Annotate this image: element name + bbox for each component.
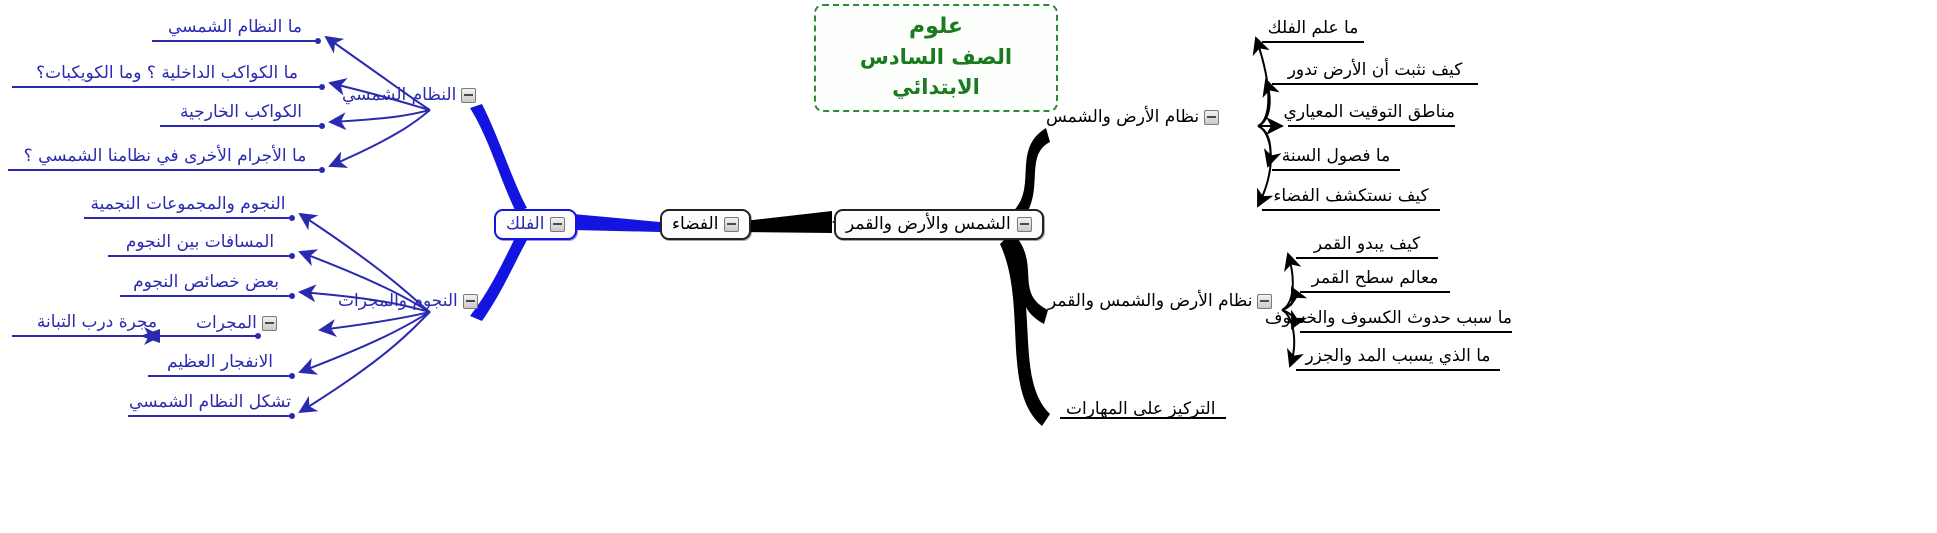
leaf-outer-planets[interactable]: الكواكب الخارجية: [160, 103, 322, 122]
leaf-milky-way[interactable]: مجرة درب التبانة: [12, 313, 182, 332]
hub-node-sun-earth-moon[interactable]: الشمس والأرض والقمر: [834, 209, 1044, 240]
subbranch-galaxies-label: المجرات: [196, 314, 257, 333]
branch-earth-sun-moon-system[interactable]: نظام الأرض والشمس والقمر: [1048, 292, 1272, 311]
leaf-tides-cause[interactable]: ما الذي يسبب المد والجزر: [1296, 347, 1500, 366]
leaf-seasons-of-year[interactable]: ما فصول السنة: [1272, 147, 1400, 166]
collapse-minus-icon[interactable]: [461, 88, 476, 103]
leaf-what-is-solar-system[interactable]: ما النظام الشمسي: [152, 18, 318, 37]
leaf-prove-earth-rotates[interactable]: كيف نثبت أن الأرض تدور: [1272, 61, 1478, 80]
branch-stars-galaxies[interactable]: النجوم والمجرات: [338, 292, 478, 311]
leaf-solar-system-formation[interactable]: تشكل النظام الشمسي: [128, 393, 292, 412]
branch-earth-sun-moon-label: نظام الأرض والشمس والقمر: [1048, 292, 1252, 311]
hub-node-astronomy-label: الفلك: [506, 215, 544, 234]
leaf-inner-planets-asteroids[interactable]: ما الكواكب الداخلية ؟ وما الكويكبات؟: [12, 64, 322, 83]
branch-solar-system[interactable]: النظام الشمسي: [342, 86, 476, 105]
title-line-2: الصف السادس الابتدائي: [826, 42, 1046, 102]
leaf-distances-between-stars[interactable]: المسافات بين النجوم: [108, 233, 292, 252]
leaf-star-properties[interactable]: بعض خصائص النجوم: [120, 273, 292, 292]
branch-focus-on-skills-label: التركيز على المهارات: [1066, 400, 1215, 419]
leaf-moon-surface-features[interactable]: معالم سطح القمر: [1300, 269, 1450, 288]
subbranch-galaxies[interactable]: المجرات: [196, 314, 277, 333]
branch-solar-system-label: النظام الشمسي: [342, 86, 456, 105]
hub-node-sun-earth-moon-label: الشمس والأرض والقمر: [846, 215, 1011, 234]
branch-stars-galaxies-label: النجوم والمجرات: [338, 292, 458, 311]
collapse-minus-icon[interactable]: [724, 217, 739, 232]
collapse-minus-icon[interactable]: [1204, 110, 1219, 125]
collapse-minus-icon[interactable]: [1017, 217, 1032, 232]
root-node-label: الفضاء: [672, 215, 718, 234]
leaf-standard-time-zones[interactable]: مناطق التوقيت المعياري: [1288, 103, 1455, 122]
collapse-minus-icon[interactable]: [463, 294, 478, 309]
collapse-minus-icon[interactable]: [1257, 294, 1272, 309]
branch-focus-on-skills[interactable]: التركيز على المهارات: [1066, 400, 1215, 419]
branch-earth-sun-system[interactable]: نظام الأرض والشمس: [1046, 108, 1219, 127]
branch-earth-sun-system-label: نظام الأرض والشمس: [1046, 108, 1199, 127]
map-title: علوم الصف السادس الابتدائي: [814, 4, 1058, 112]
leaf-how-moon-appears[interactable]: كيف يبدو القمر: [1296, 235, 1438, 254]
leaf-eclipses-cause[interactable]: ما سبب حدوث الكسوف والخسوف: [1300, 309, 1512, 328]
leaf-stars-constellations[interactable]: النجوم والمجموعات النجمية: [84, 195, 292, 214]
collapse-minus-icon[interactable]: [550, 217, 565, 232]
collapse-minus-icon[interactable]: [262, 316, 277, 331]
title-line-1: علوم: [826, 12, 1046, 42]
root-node-space[interactable]: الفضاء: [660, 209, 751, 240]
mindmap-canvas: علوم الصف السادس الابتدائي الفضاء الفلك …: [0, 0, 1937, 533]
leaf-other-bodies[interactable]: ما الأجرام الأخرى في نظامنا الشمسي ؟: [8, 147, 322, 166]
leaf-what-is-astronomy[interactable]: ما علم الفلك: [1262, 19, 1364, 38]
leaf-how-we-explore-space[interactable]: كيف نستكشف الفضاء: [1262, 187, 1440, 206]
leaf-big-bang[interactable]: الانفجار العظيم: [148, 353, 292, 372]
hub-node-astronomy[interactable]: الفلك: [494, 209, 577, 240]
